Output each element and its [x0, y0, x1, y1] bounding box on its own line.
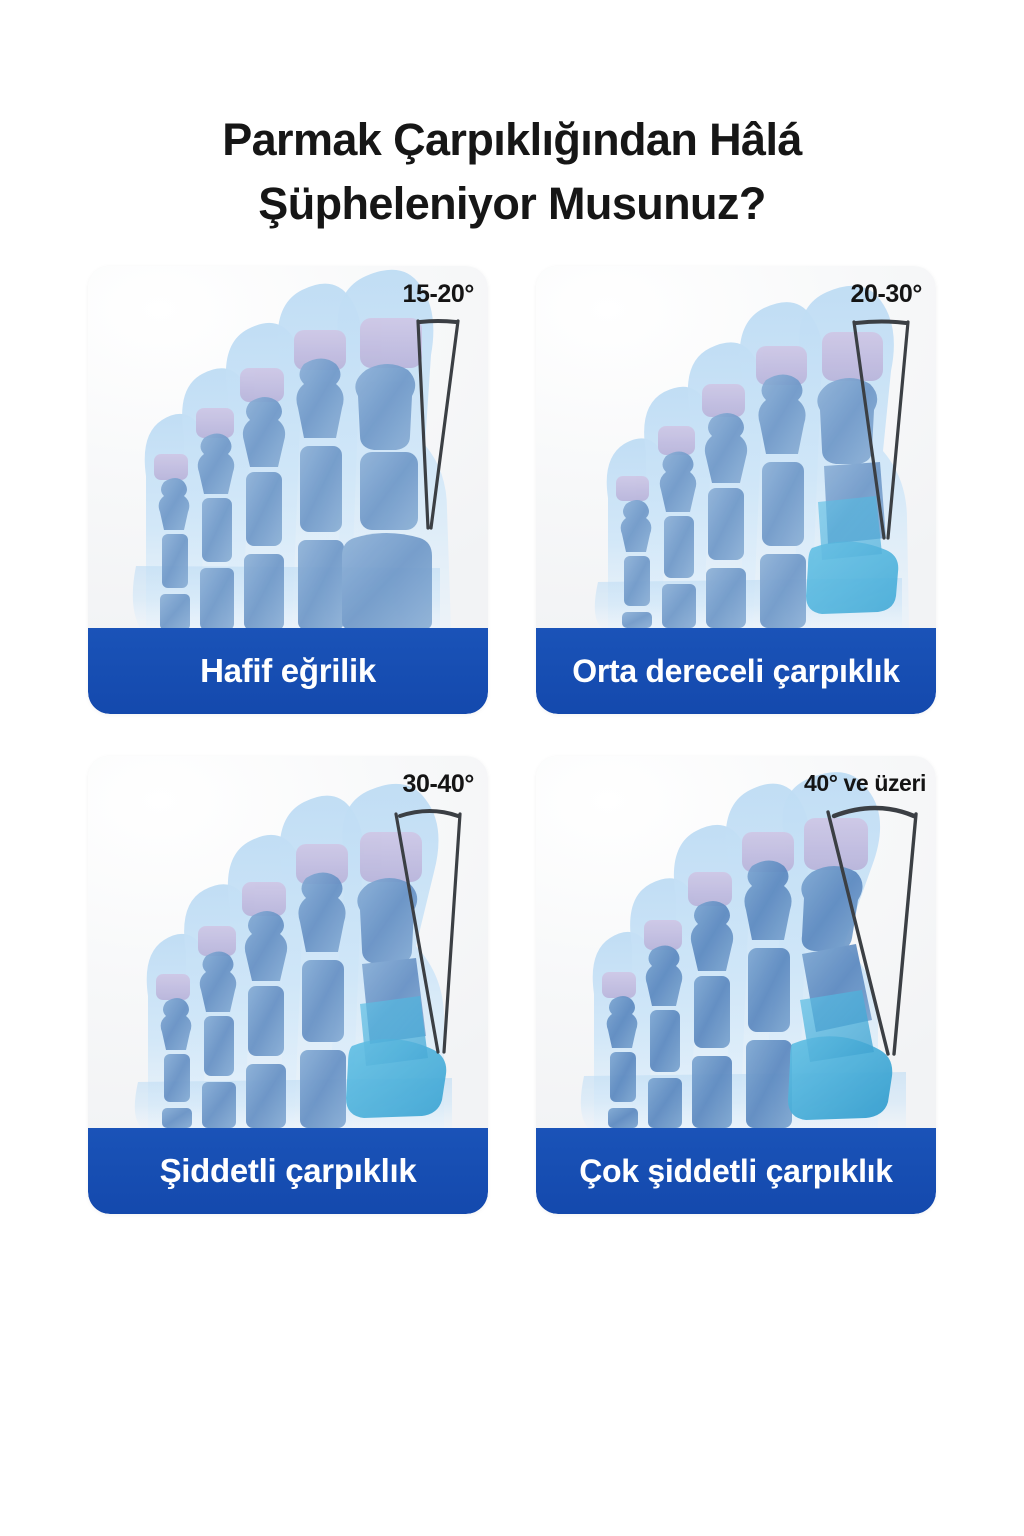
- xray-foot-illustration-very-severe: [536, 756, 936, 1128]
- severity-card-grid: 15-20° Hafif eğrilik: [88, 266, 936, 1224]
- page-title-line-2: Şüpheleniyor Musunuz?: [0, 172, 1024, 236]
- severity-card-mild[interactable]: 15-20° Hafif eğrilik: [88, 266, 488, 714]
- severity-bar-moderate: Orta dereceli çarpıklık: [536, 628, 936, 714]
- severity-label-mild: Hafif eğrilik: [200, 652, 376, 690]
- severity-bar-very-severe: Çok şiddetli çarpıklık: [536, 1128, 936, 1214]
- angle-label-severe: 30-40°: [402, 770, 474, 799]
- angle-label-mild: 15-20°: [402, 280, 474, 309]
- severity-bar-mild: Hafif eğrilik: [88, 628, 488, 714]
- xray-foot-illustration-severe: [88, 756, 488, 1128]
- severity-label-severe: Şiddetli çarpıklık: [160, 1152, 417, 1190]
- severity-card-very-severe[interactable]: 40° ve üzeri Çok şiddetli çarpıklık: [536, 756, 936, 1214]
- angle-label-moderate: 20-30°: [850, 280, 922, 309]
- page-title-line-1: Parmak Çarpıklığından Hâlá: [0, 108, 1024, 172]
- xray-foot-illustration-moderate: [536, 266, 936, 628]
- severity-label-very-severe: Çok şiddetli çarpıklık: [579, 1153, 893, 1190]
- page-title: Parmak Çarpıklığından Hâlá Şüpheleniyor …: [0, 108, 1024, 236]
- severity-card-moderate[interactable]: 20-30° Orta dereceli çarpıklık: [536, 266, 936, 714]
- severity-card-severe[interactable]: 30-40° Şiddetli çarpıklık: [88, 756, 488, 1214]
- angle-label-very-severe: 40° ve üzeri: [804, 770, 926, 797]
- severity-bar-severe: Şiddetli çarpıklık: [88, 1128, 488, 1214]
- xray-foot-illustration-mild: [88, 266, 488, 628]
- severity-label-moderate: Orta dereceli çarpıklık: [572, 653, 900, 690]
